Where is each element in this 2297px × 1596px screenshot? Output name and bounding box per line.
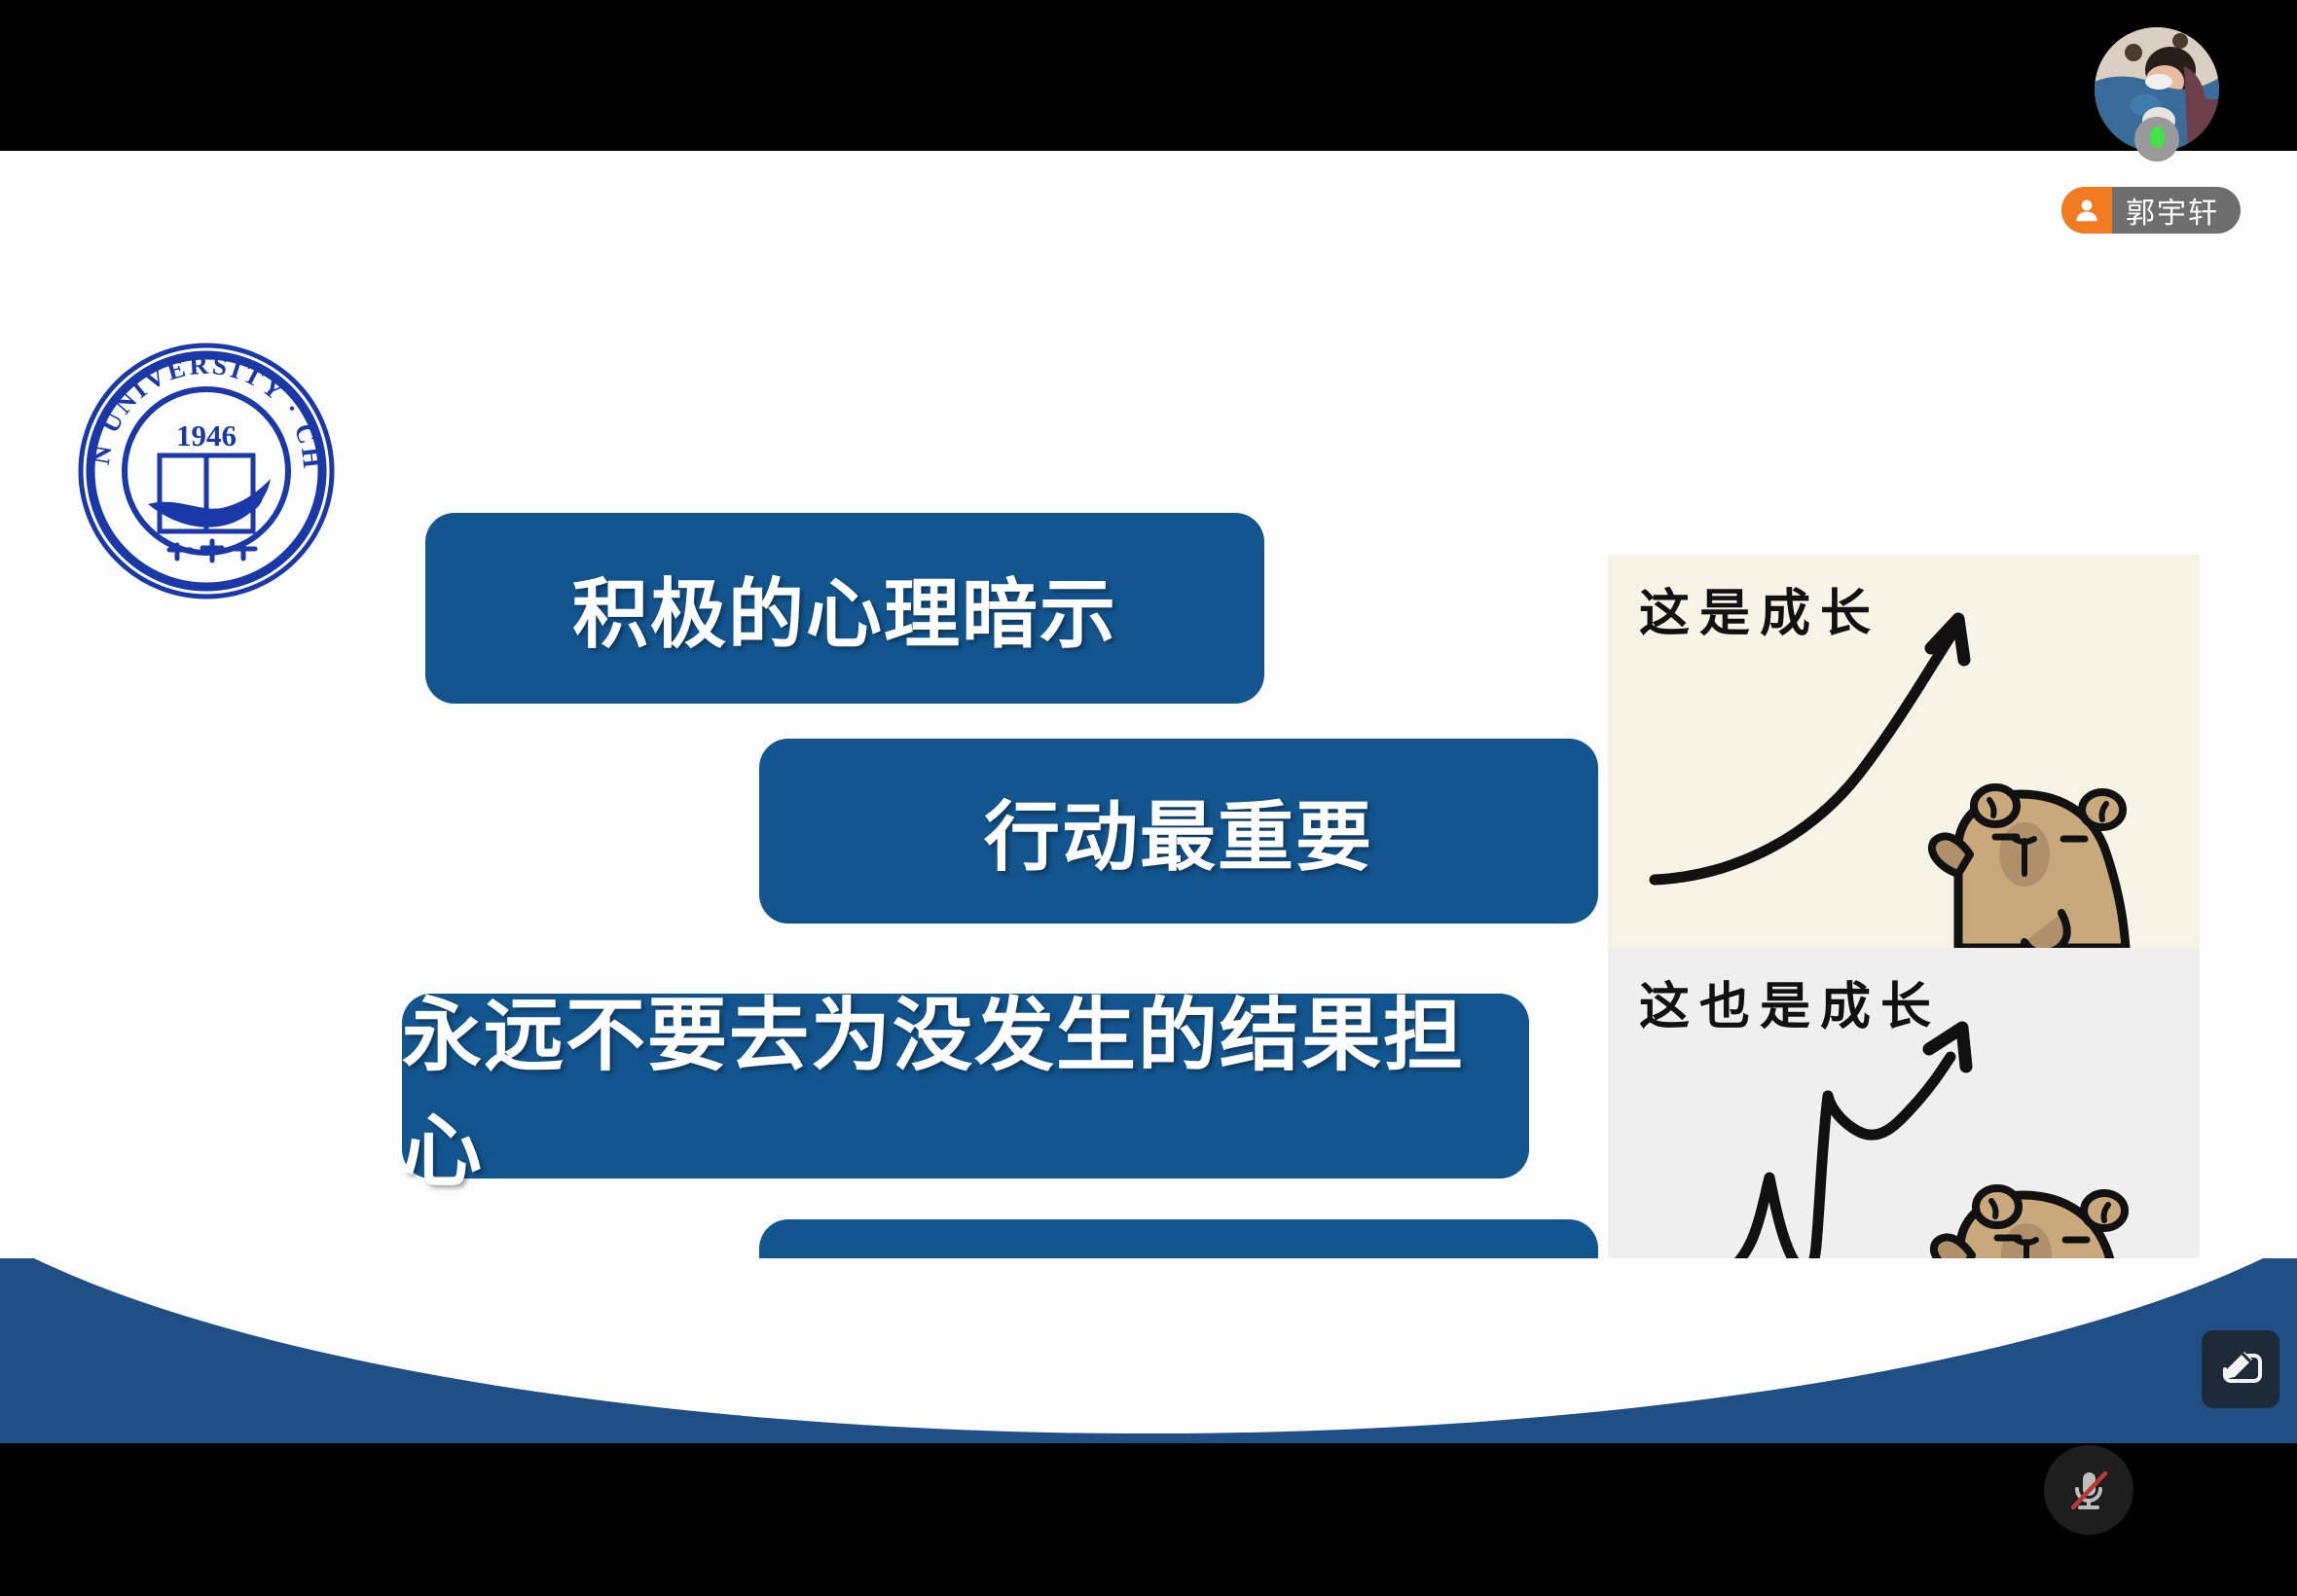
meme-caption-1: 这是成长 (1639, 572, 1880, 645)
meme-caption-2: 这也是成长 (1639, 965, 1941, 1038)
slide-box-3: 永远不要去为没发生的结果担心 (402, 994, 1529, 1179)
capybara-meme-images: 这是成长 (1608, 555, 2200, 1345)
jilin-university-logo: JILIN UNIVERSITY · CHINA 1946 (76, 341, 337, 601)
self-view-tile[interactable] (2095, 27, 2219, 152)
presentation-slide: JILIN UNIVERSITY · CHINA 1946 积极的心理暗示 行动… (0, 151, 2297, 1443)
participant-name-label: 郭宇轩 (2112, 187, 2241, 234)
slide-box-1: 积极的心理暗示 (425, 513, 1264, 704)
slide-footer-wave (0, 1258, 2297, 1443)
slide-box-2: 行动最重要 (759, 739, 1598, 924)
mute-microphone-button[interactable] (2044, 1445, 2133, 1535)
mic-status-icon (2134, 117, 2179, 162)
wave-curve-mask (0, 1258, 2297, 1433)
meeting-screenshare-window: JILIN UNIVERSITY · CHINA 1946 积极的心理暗示 行动… (0, 0, 2297, 1596)
svg-text:1946: 1946 (176, 418, 237, 453)
meme-panel-growth-smooth: 这是成长 (1608, 555, 2200, 948)
annotate-button[interactable] (2202, 1330, 2279, 1408)
participant-name-badge: 郭宇轩 (2061, 187, 2241, 234)
person-icon (2061, 187, 2112, 234)
